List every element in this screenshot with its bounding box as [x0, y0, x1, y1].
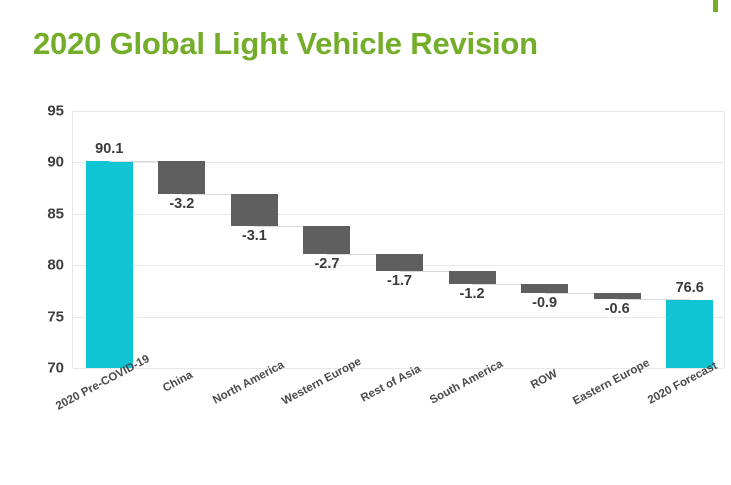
bar-western-europe: [303, 226, 350, 254]
y-axis-tick-label: 80: [22, 257, 64, 274]
y-axis-tick-label: 70: [22, 360, 64, 377]
bar-2020-pre-covid-19: [86, 161, 133, 368]
bar-row: [521, 284, 568, 293]
bar-2020-forecast: [666, 300, 713, 368]
y-axis-tick-label: 85: [22, 205, 64, 222]
bar-china: [158, 161, 205, 194]
bar-value-label: 90.1: [73, 141, 146, 157]
bar-rest-of-asia: [376, 254, 423, 271]
bar-value-label: -0.6: [581, 301, 654, 317]
x-axis-category-label: China: [161, 368, 195, 394]
y-axis-tick-label: 90: [22, 154, 64, 171]
y-axis-tick-label: 95: [22, 103, 64, 120]
bar-south-america: [449, 271, 496, 283]
x-axis-category-label: ROW: [529, 367, 559, 391]
bar-value-label: -3.1: [218, 228, 291, 244]
bar-value-label: -3.2: [145, 196, 218, 212]
gridline-95: [73, 111, 724, 112]
bar-value-label: -1.7: [363, 273, 436, 289]
bar-value-label: 76.6: [653, 280, 726, 296]
gridline-85: [73, 214, 724, 215]
bar-value-label: -0.9: [508, 295, 581, 311]
plot-area: 90.1-3.2-3.1-2.7-1.7-1.2-0.9-0.676.6: [72, 111, 725, 368]
bar-value-label: -1.2: [436, 286, 509, 302]
bar-north-america: [231, 194, 278, 226]
bar-value-label: -2.7: [290, 256, 363, 272]
waterfall-chart: 707580859095 90.1-3.2-3.1-2.7-1.7-1.2-0.…: [0, 0, 731, 485]
slide-canvas: 2020 Global Light Vehicle Revision 70758…: [0, 0, 731, 485]
y-axis-tick-label: 75: [22, 308, 64, 325]
y-axis: 707580859095: [14, 111, 64, 368]
x-axis-category-label: Rest of Asia: [359, 363, 423, 405]
